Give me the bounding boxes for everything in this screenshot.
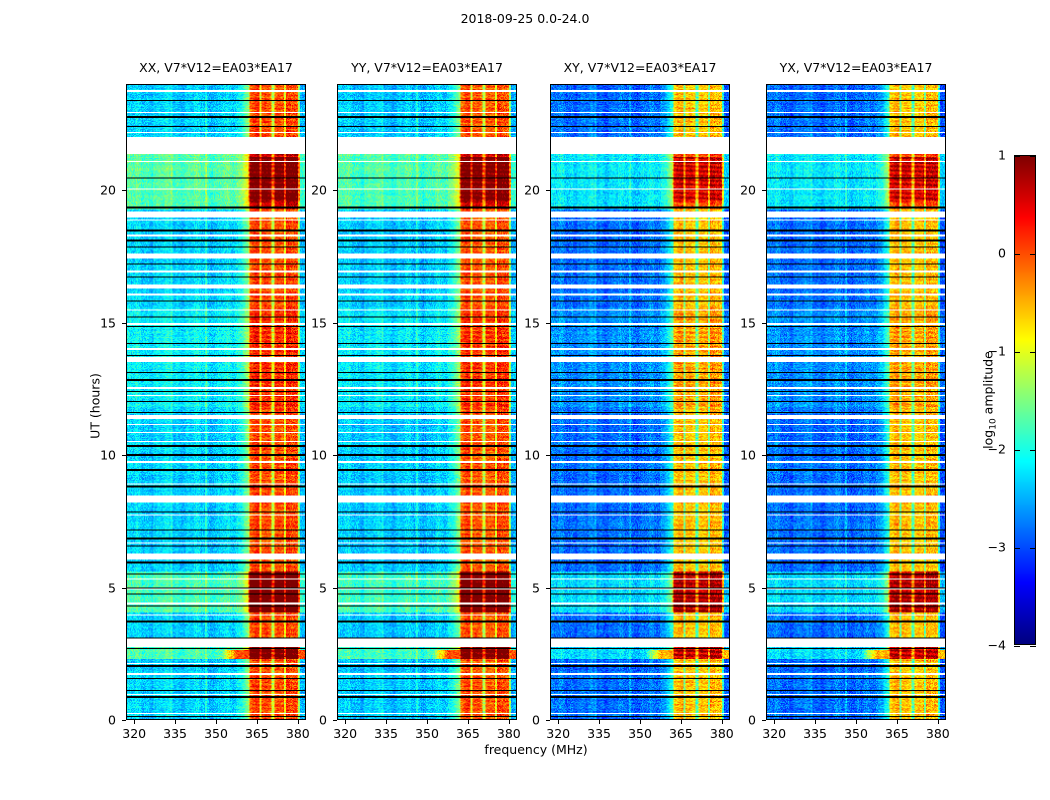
- y-tick: [333, 588, 337, 589]
- colorbar-tick: [1014, 646, 1020, 647]
- y-tick: [546, 588, 550, 589]
- panel-yx-title: YX, V7*V12=EA03*EA17: [780, 60, 933, 75]
- y-tick-label: 20: [311, 183, 327, 198]
- y-tick: [546, 455, 550, 456]
- colorbar-tick: [1030, 156, 1036, 157]
- y-tick-label: 5: [532, 580, 540, 595]
- y-tick-label: 0: [748, 713, 756, 728]
- panel-xx-axes[interactable]: [126, 84, 306, 720]
- x-tick-label: 380: [497, 726, 521, 741]
- x-tick: [216, 720, 217, 724]
- panel-yy-title: YY, V7*V12=EA03*EA17: [351, 60, 503, 75]
- panel-xy-spectrogram: [551, 85, 729, 719]
- y-tick: [122, 588, 126, 589]
- y-tick: [762, 190, 766, 191]
- figure-canvas: 2018-09-25 0.0-24.0 XX, V7*V12=EA03*EA17…: [0, 0, 1050, 800]
- x-tick-label: 365: [456, 726, 480, 741]
- panel-yy-axes[interactable]: [337, 84, 517, 720]
- x-tick: [599, 720, 600, 724]
- colorbar-tick: [1014, 548, 1020, 549]
- x-axis-label: frequency (MHz): [484, 742, 587, 757]
- y-tick: [762, 720, 766, 721]
- y-tick: [122, 720, 126, 721]
- x-tick: [640, 720, 641, 724]
- colorbar-tick-label: 1: [998, 148, 1006, 163]
- x-tick-label: 380: [286, 726, 310, 741]
- x-tick-label: 350: [628, 726, 652, 741]
- y-tick-label: 10: [524, 448, 540, 463]
- x-tick: [468, 720, 469, 724]
- colorbar-tick: [1030, 450, 1036, 451]
- colorbar-tick: [1014, 254, 1020, 255]
- y-tick: [333, 190, 337, 191]
- colorbar-tick-label: −4: [988, 638, 1006, 653]
- x-tick: [386, 720, 387, 724]
- colorbar-tick: [1030, 548, 1036, 549]
- colorbar-tick-label: −3: [988, 540, 1006, 555]
- x-tick: [134, 720, 135, 724]
- colorbar-label-tail: amplitude: [981, 351, 996, 418]
- y-tick: [546, 323, 550, 324]
- x-tick-label: 335: [374, 726, 398, 741]
- y-tick: [546, 720, 550, 721]
- panel-xx-title: XX, V7*V12=EA03*EA17: [139, 60, 293, 75]
- y-tick: [122, 323, 126, 324]
- colorbar-tick-label: −2: [988, 442, 1006, 457]
- y-tick: [762, 588, 766, 589]
- y-tick: [333, 323, 337, 324]
- colorbar-tick: [1030, 352, 1036, 353]
- x-tick: [558, 720, 559, 724]
- y-tick-label: 10: [311, 448, 327, 463]
- y-tick-label: 15: [740, 315, 756, 330]
- x-tick-label: 380: [710, 726, 734, 741]
- panel-xy[interactable]: XY, V7*V12=EA03*EA17 3203353503653800510…: [550, 84, 730, 720]
- x-tick-label: 320: [546, 726, 570, 741]
- panel-yx[interactable]: YX, V7*V12=EA03*EA17 3203353503653800510…: [766, 84, 946, 720]
- panel-yy[interactable]: YY, V7*V12=EA03*EA17 3203353503653800510…: [337, 84, 517, 720]
- y-tick-label: 10: [100, 448, 116, 463]
- y-tick-label: 5: [108, 580, 116, 595]
- figure-suptitle: 2018-09-25 0.0-24.0: [0, 11, 1050, 26]
- y-tick-label: 5: [748, 580, 756, 595]
- y-tick: [762, 455, 766, 456]
- panel-xx[interactable]: XX, V7*V12=EA03*EA17 3203353503653800510…: [126, 84, 306, 720]
- colorbar-tick: [1014, 450, 1020, 451]
- y-tick: [333, 720, 337, 721]
- x-tick-label: 365: [669, 726, 693, 741]
- y-tick: [122, 455, 126, 456]
- y-tick: [333, 455, 337, 456]
- colorbar-tick: [1014, 352, 1020, 353]
- y-tick-label: 0: [532, 713, 540, 728]
- panel-yx-axes[interactable]: [766, 84, 946, 720]
- x-tick: [427, 720, 428, 724]
- panel-xy-axes[interactable]: [550, 84, 730, 720]
- y-axis-label: UT (hours): [88, 373, 103, 439]
- x-tick-label: 365: [885, 726, 909, 741]
- x-tick: [856, 720, 857, 724]
- x-tick-label: 380: [926, 726, 950, 741]
- x-tick: [175, 720, 176, 724]
- colorbar-tick-label: −1: [988, 344, 1006, 359]
- y-tick-label: 20: [740, 183, 756, 198]
- x-tick-label: 350: [204, 726, 228, 741]
- panel-yy-spectrogram: [338, 85, 516, 719]
- y-tick-label: 15: [100, 315, 116, 330]
- x-tick: [897, 720, 898, 724]
- x-tick: [774, 720, 775, 724]
- x-tick-label: 335: [587, 726, 611, 741]
- y-tick-label: 0: [108, 713, 116, 728]
- x-tick: [298, 720, 299, 724]
- panel-xy-title: XY, V7*V12=EA03*EA17: [564, 60, 717, 75]
- y-tick: [122, 190, 126, 191]
- panel-yx-spectrogram: [767, 85, 945, 719]
- x-tick: [681, 720, 682, 724]
- x-tick-label: 320: [122, 726, 146, 741]
- x-tick-label: 350: [415, 726, 439, 741]
- x-tick: [509, 720, 510, 724]
- y-tick-label: 10: [740, 448, 756, 463]
- x-tick: [345, 720, 346, 724]
- y-tick-label: 5: [319, 580, 327, 595]
- x-tick-label: 320: [333, 726, 357, 741]
- colorbar-label-subscript: 10: [988, 418, 998, 429]
- panel-xx-spectrogram: [127, 85, 305, 719]
- x-tick-label: 350: [844, 726, 868, 741]
- y-tick: [762, 323, 766, 324]
- colorbar-tick: [1014, 156, 1020, 157]
- x-tick-label: 335: [163, 726, 187, 741]
- x-tick: [722, 720, 723, 724]
- y-tick-label: 15: [311, 315, 327, 330]
- y-tick-label: 15: [524, 315, 540, 330]
- y-tick-label: 20: [100, 183, 116, 198]
- y-tick-label: 0: [319, 713, 327, 728]
- x-tick: [938, 720, 939, 724]
- colorbar-tick: [1030, 646, 1036, 647]
- y-tick-label: 20: [524, 183, 540, 198]
- colorbar-tick-label: 0: [998, 246, 1006, 261]
- colorbar[interactable]: [1014, 155, 1036, 645]
- x-tick-label: 365: [245, 726, 269, 741]
- x-tick-label: 320: [762, 726, 786, 741]
- colorbar-tick: [1030, 254, 1036, 255]
- x-tick: [257, 720, 258, 724]
- y-tick: [546, 190, 550, 191]
- x-tick: [815, 720, 816, 724]
- x-tick-label: 335: [803, 726, 827, 741]
- colorbar-label: log10 amplitude: [981, 351, 996, 449]
